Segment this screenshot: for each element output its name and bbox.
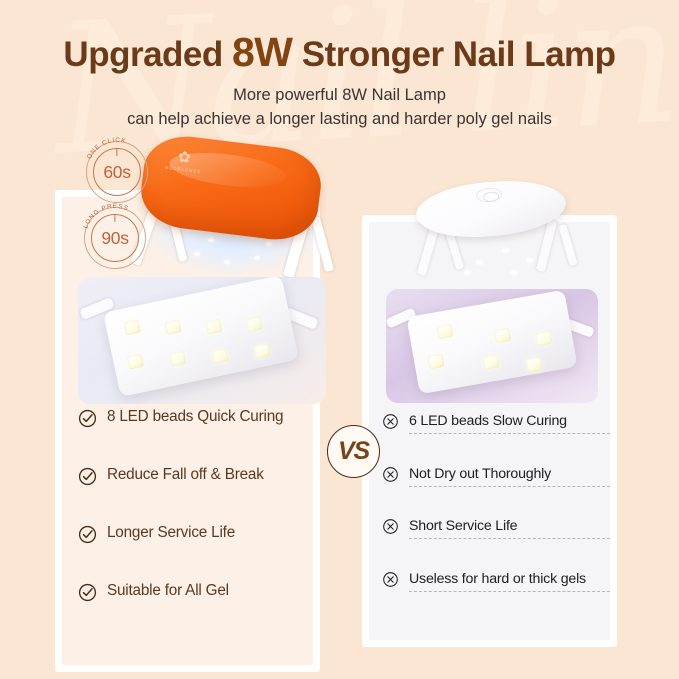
- list-item: Short Service Life: [382, 517, 610, 539]
- led-board: [103, 277, 299, 397]
- list-item: Longer Service Life: [78, 524, 313, 544]
- x-circle-icon: [382, 413, 399, 430]
- led-bead: [494, 328, 511, 343]
- check-circle-icon: [78, 467, 97, 486]
- led-bead: [169, 351, 186, 367]
- feature-text: Not Dry out Thoroughly: [409, 466, 551, 487]
- feature-wrap: 6 LED beads Slow Curing: [409, 412, 610, 434]
- white-nail-lamp-image: [398, 178, 598, 288]
- led-bead: [205, 319, 222, 335]
- page-title: Upgraded 8W Stronger Nail Lamp: [0, 30, 679, 75]
- badge-label-long-press: LONG PRESS: [82, 203, 129, 230]
- feature-wrap: Short Service Life: [409, 517, 610, 539]
- badge-arc-label-long-press: LONG PRESS: [76, 198, 154, 276]
- led-glow-dot: [194, 252, 200, 256]
- led-glow-dot: [224, 260, 230, 264]
- list-item: Not Dry out Thoroughly: [382, 465, 610, 487]
- x-circle-icon: [382, 466, 399, 483]
- led-bead: [428, 354, 445, 369]
- subtitle-line-1: More powerful 8W Nail Lamp: [0, 84, 679, 108]
- led-glow-dot: [510, 270, 517, 275]
- feature-text: Short Service Life: [409, 518, 517, 539]
- check-circle-icon: [78, 583, 97, 602]
- led-bead: [164, 319, 181, 335]
- led-bead: [211, 348, 228, 364]
- feature-wrap: Useless for hard or thick gels: [409, 570, 610, 592]
- feature-text: 8 LED beads Quick Curing: [107, 408, 283, 426]
- title-wattage: 8W: [232, 29, 293, 75]
- lamp-leg: [558, 224, 577, 267]
- led-glow-dot: [208, 238, 214, 242]
- lamp-leg: [536, 220, 557, 273]
- led-glow-dot: [526, 258, 533, 263]
- list-item: Suitable for All Gel: [78, 582, 313, 602]
- led-bead: [436, 324, 453, 339]
- feature-text: Useless for hard or thick gels: [409, 571, 586, 592]
- feature-text: 6 LED beads Slow Curing: [409, 413, 567, 434]
- list-item: Useless for hard or thick gels: [382, 570, 610, 592]
- led-bead: [124, 320, 141, 336]
- led-glow-dot: [266, 242, 272, 246]
- led-bead: [526, 357, 543, 372]
- led-bead: [246, 316, 263, 332]
- feature-text: Suitable for All Gel: [107, 582, 229, 600]
- led-bead: [127, 354, 144, 370]
- title-prefix: Upgraded: [63, 35, 232, 74]
- feature-wrap: Not Dry out Thoroughly: [409, 465, 610, 487]
- svg-text:LONG PRESS: LONG PRESS: [82, 203, 129, 230]
- title-suffix: Stronger Nail Lamp: [293, 35, 616, 74]
- led-bead: [535, 331, 552, 346]
- led-glow-dot: [502, 248, 509, 253]
- vs-label: VS: [338, 437, 369, 466]
- led-glow-dot: [254, 256, 260, 260]
- header: Upgraded 8W Stronger Nail Lamp More powe…: [0, 0, 679, 132]
- led-board: [406, 290, 577, 395]
- timer-badge-one-click: 60s ONE CLICK: [86, 141, 148, 203]
- left-feature-list: 8 LED beads Quick Curing Reduce Fall off…: [78, 408, 313, 640]
- led-glow-dot: [464, 270, 471, 275]
- x-circle-icon: [382, 571, 399, 588]
- list-item: 8 LED beads Quick Curing: [78, 408, 313, 428]
- feature-text: Reduce Fall off & Break: [107, 466, 264, 484]
- list-item: Reduce Fall off & Break: [78, 466, 313, 486]
- right-led-panel-image: [386, 289, 598, 403]
- led-bead: [482, 354, 499, 369]
- badge-label-one-click: ONE CLICK: [86, 137, 127, 160]
- left-led-panel-image: [78, 277, 326, 404]
- x-circle-icon: [382, 518, 399, 535]
- check-circle-icon: [78, 409, 97, 428]
- svg-text:ONE CLICK: ONE CLICK: [86, 137, 127, 160]
- subtitle: More powerful 8W Nail Lamp can help achi…: [0, 84, 679, 132]
- timer-badge-long-press: 90s LONG PRESS: [84, 207, 146, 269]
- right-feature-list: 6 LED beads Slow Curing Not Dry out Thor…: [382, 412, 610, 622]
- vs-badge: VS: [327, 425, 380, 478]
- infographic-page: Nail lines Upgraded 8W Stronger Nail Lam…: [0, 0, 679, 679]
- check-circle-icon: [78, 525, 97, 544]
- feature-text: Longer Service Life: [107, 524, 235, 542]
- list-item: 6 LED beads Slow Curing: [382, 412, 610, 434]
- led-bead: [253, 343, 270, 359]
- led-glow-dot: [476, 260, 483, 265]
